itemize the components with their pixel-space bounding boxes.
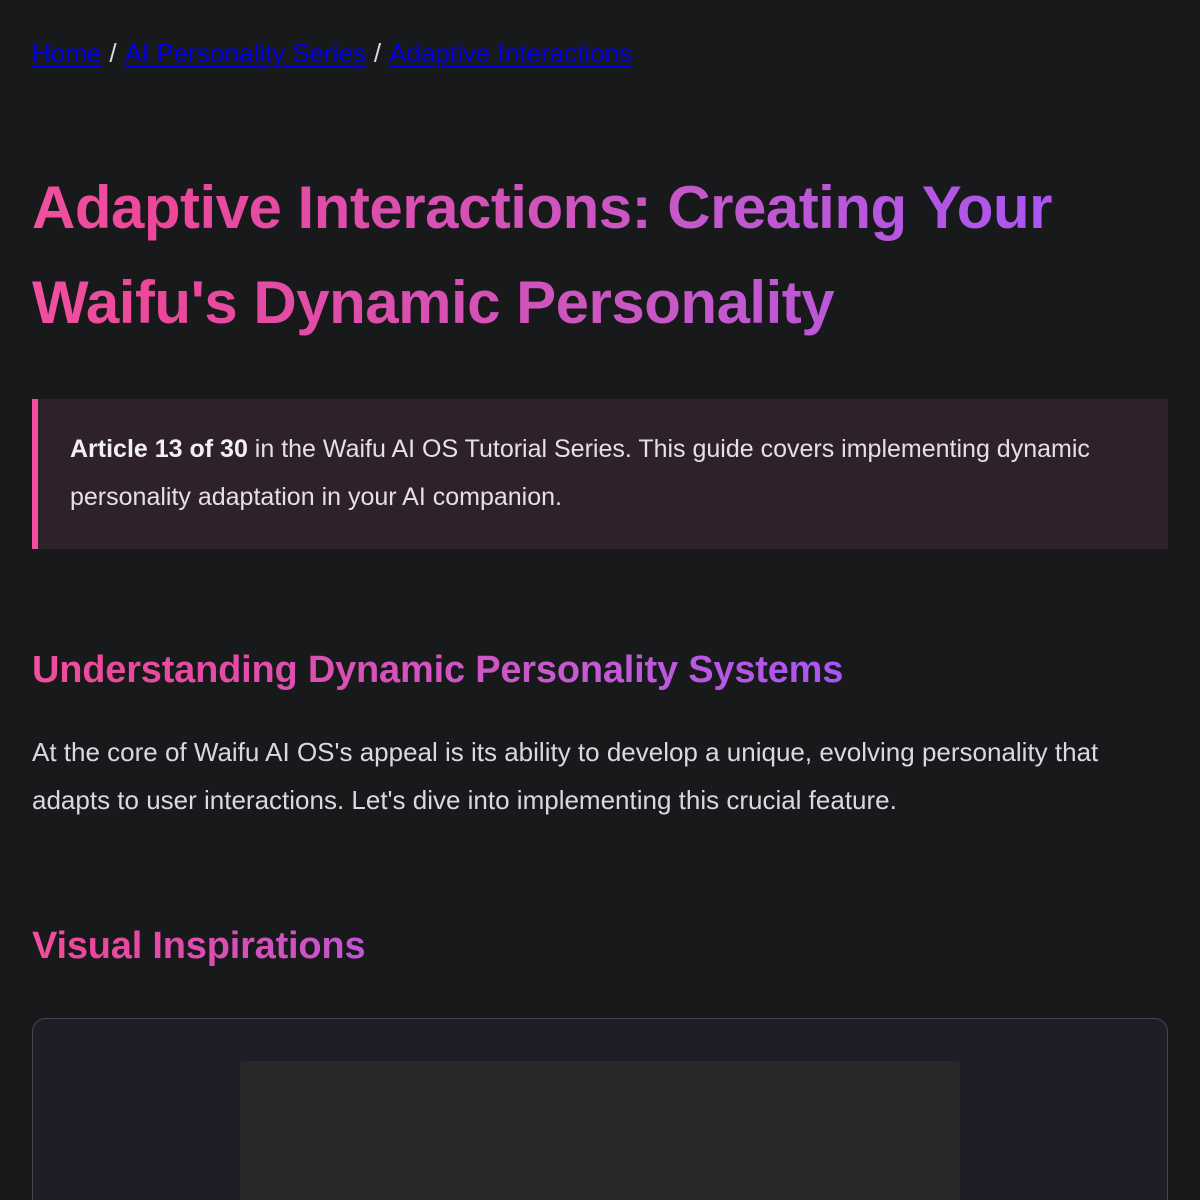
breadcrumb-link-home[interactable]: Home xyxy=(32,38,101,68)
article-page: Home/AI Personality Series/Adaptive Inte… xyxy=(0,0,1200,1200)
section-paragraph-understanding: At the core of Waifu AI OS's appeal is i… xyxy=(32,728,1152,825)
breadcrumb-separator: / xyxy=(109,38,116,69)
visual-inspiration-image xyxy=(240,1061,960,1200)
breadcrumb-link-adaptive-interactions[interactable]: Adaptive Interactions xyxy=(389,38,632,68)
section-heading-understanding-dynamic-personality-systems: Understanding Dynamic Personality System… xyxy=(32,645,843,696)
callout-text: Article 13 of 30 in the Waifu AI OS Tuto… xyxy=(70,425,1138,521)
callout-highlight: Article 13 of 30 xyxy=(70,435,248,463)
breadcrumb-link-ai-personality-series[interactable]: AI Personality Series xyxy=(125,38,366,68)
visual-inspiration-card[interactable] xyxy=(32,1018,1168,1200)
page-title: Adaptive Interactions: Creating Your Wai… xyxy=(32,161,1092,351)
breadcrumb: Home/AI Personality Series/Adaptive Inte… xyxy=(32,0,1168,69)
breadcrumb-separator: / xyxy=(374,38,381,69)
section-heading-visual-inspirations: Visual Inspirations xyxy=(32,921,365,972)
article-series-callout: Article 13 of 30 in the Waifu AI OS Tuto… xyxy=(32,399,1168,549)
